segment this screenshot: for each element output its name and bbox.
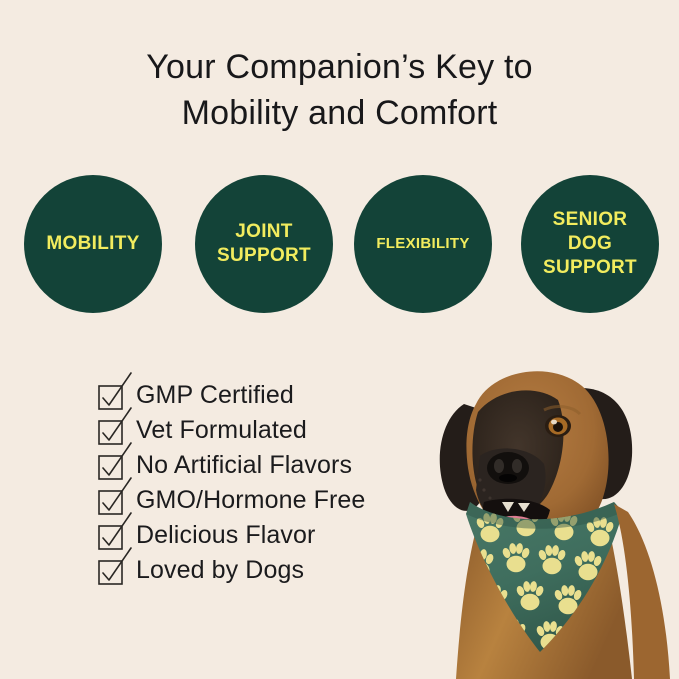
checkmark-icon <box>99 524 122 547</box>
badge-mobility: MOBILITY <box>24 175 162 313</box>
list-item: No Artificial Flavors <box>99 448 429 483</box>
list-item-label: GMO/Hormone Free <box>136 488 365 513</box>
badge-senior-dog-support-label: SENIOR DOG SUPPORT <box>543 208 637 281</box>
badge-flexibility: FLEXIBILITY <box>354 175 492 313</box>
badge-joint-support-label: JOINT SUPPORT <box>217 220 311 269</box>
badge-joint-support: JOINT SUPPORT <box>195 175 333 313</box>
checkmark-icon <box>99 384 122 407</box>
dog-photo <box>418 352 679 679</box>
benefit-badges: MOBILITY JOINT SUPPORT FLEXIBILITY SENIO… <box>0 175 679 315</box>
feature-checklist: GMP Certified Vet Formulated No Artifici… <box>99 378 429 588</box>
list-item-label: Vet Formulated <box>136 418 307 443</box>
list-item-label: GMP Certified <box>136 383 294 408</box>
headline-line-1: Your Companion’s Key to <box>146 48 532 86</box>
badge-senior-dog-support: SENIOR DOG SUPPORT <box>521 175 659 313</box>
list-item: GMO/Hormone Free <box>99 483 429 518</box>
list-item-label: Delicious Flavor <box>136 523 315 548</box>
list-item-label: Loved by Dogs <box>136 558 304 583</box>
checkmark-icon <box>99 419 122 442</box>
badge-mobility-label: MOBILITY <box>46 232 139 256</box>
marketing-image: Your Companion’s Key to Mobility and Com… <box>0 0 679 679</box>
headline-line-2: Mobility and Comfort <box>0 90 679 136</box>
list-item: Vet Formulated <box>99 413 429 448</box>
list-item: Loved by Dogs <box>99 553 429 588</box>
page-title: Your Companion’s Key to Mobility and Com… <box>0 44 679 136</box>
list-item: Delicious Flavor <box>99 518 429 553</box>
list-item-label: No Artificial Flavors <box>136 453 352 478</box>
checkmark-icon <box>99 454 122 477</box>
checkmark-icon <box>99 489 122 512</box>
checkmark-icon <box>99 559 122 582</box>
badge-flexibility-label: FLEXIBILITY <box>376 234 469 253</box>
list-item: GMP Certified <box>99 378 429 413</box>
